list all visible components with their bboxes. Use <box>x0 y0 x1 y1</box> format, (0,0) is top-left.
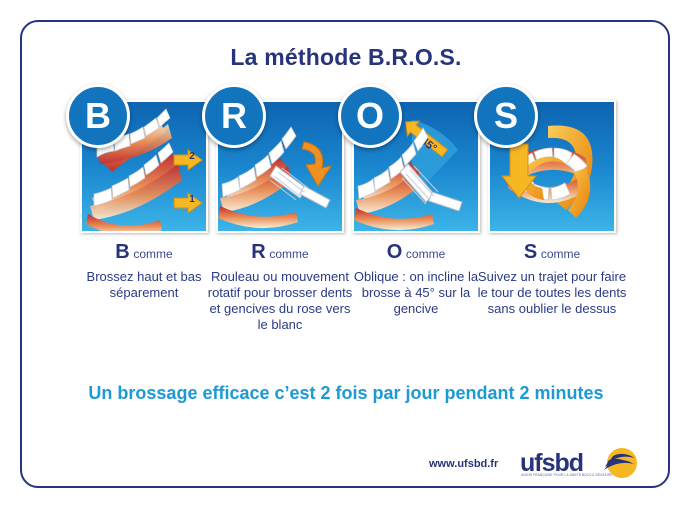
badge-letter-b: B <box>66 84 130 148</box>
page-title: La méthode B.R.O.S. <box>0 44 692 71</box>
caption-letter-o: O <box>387 241 403 263</box>
ufsbd-logo[interactable]: ufsbd UNION FRANÇAISE POUR LA SANTÉ BUCC… <box>520 449 644 481</box>
caption-head-b: B comme <box>69 244 219 262</box>
caption-comme-s: comme <box>541 247 580 261</box>
caption-text-r: Rouleau ou mouvement rotatif pour brosse… <box>205 269 355 333</box>
tagline: Un brossage efficace c’est 2 fois par jo… <box>0 383 692 404</box>
caption-letter-r: R <box>251 241 265 263</box>
caption-letter-s: S <box>524 241 537 263</box>
caption-head-o: O comme <box>341 244 491 262</box>
caption-text-b: Brossez haut et bas séparement <box>69 269 219 301</box>
logo-swoosh-icon <box>599 448 645 478</box>
svg-text:1: 1 <box>189 194 195 205</box>
badge-letter-s: S <box>474 84 538 148</box>
caption-comme-o: comme <box>406 247 445 261</box>
caption-text-o: Oblique : on incline la brosse à 45° sur… <box>341 269 491 317</box>
caption-step-r: R comme Rouleau ou mouvement rotatif pou… <box>205 244 355 333</box>
caption-text-s: Suivez un trajet pour faire le tour de t… <box>477 269 627 317</box>
svg-text:2: 2 <box>189 151 195 162</box>
caption-comme-b: comme <box>133 247 172 261</box>
badge-letter-o: O <box>338 84 402 148</box>
caption-letter-b: B <box>115 241 129 263</box>
caption-step-b: B comme Brossez haut et bas séparement <box>69 244 219 301</box>
arrow-label-1: 1 <box>174 193 202 213</box>
caption-step-o: O comme Oblique : on incline la brosse à… <box>341 244 491 317</box>
caption-head-s: S comme <box>477 244 627 262</box>
badge-letter-r: R <box>202 84 266 148</box>
caption-comme-r: comme <box>269 247 308 261</box>
website-url[interactable]: www.ufsbd.fr <box>429 458 498 470</box>
caption-step-s: S comme Suivez un trajet pour faire le t… <box>477 244 627 317</box>
caption-head-r: R comme <box>205 244 355 262</box>
poster-root: La méthode B.R.O.S. <box>0 0 692 510</box>
